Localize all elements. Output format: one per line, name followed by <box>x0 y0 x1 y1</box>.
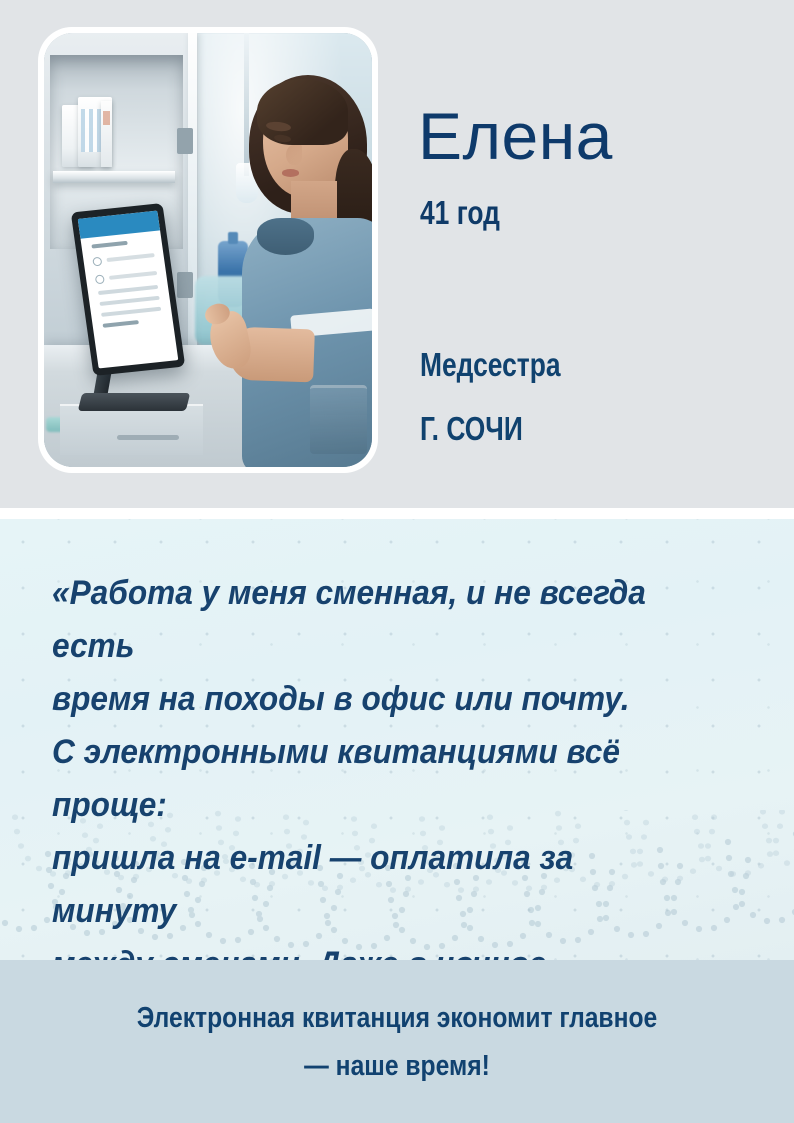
nurse-lips <box>282 169 299 176</box>
person-role: Медсестра <box>420 348 561 381</box>
nurse-photo-frame <box>38 27 378 473</box>
counter-drawer <box>60 404 202 455</box>
cabinet-shelf <box>53 171 175 183</box>
tablet-row-line <box>106 253 154 262</box>
footer-section: Электронная квитанция экономит главное —… <box>0 960 794 1123</box>
drawer-handle <box>117 435 179 440</box>
tablet-list-row <box>92 250 155 265</box>
checkbox-icon <box>94 274 104 284</box>
tablet-row-line <box>109 271 157 280</box>
person-name: Елена <box>418 103 613 169</box>
person-city: г. Сочи <box>420 412 523 445</box>
quote-section: «Работа у меня сменная, и не всегда есть… <box>0 519 794 960</box>
tablet-stand-base <box>78 393 191 411</box>
footer-text-block: Электронная квитанция экономит главное —… <box>37 994 757 1090</box>
nurse-photo <box>44 33 372 467</box>
footer-slogan-line-1: Электронная квитанция экономит главное <box>91 994 703 1042</box>
hero-text-block: Елена 41 год Медсестра г. Сочи <box>418 0 778 508</box>
small-medicine-box <box>101 101 113 167</box>
tablet-screen <box>77 210 177 368</box>
tablet-list-row <box>94 268 157 283</box>
footer-slogan-line-2: — наше время! <box>91 1042 703 1090</box>
nurse-scrubs-pocket <box>310 385 367 453</box>
nurse-scrubs-collar <box>257 218 314 255</box>
testimonial-poster: Елена 41 год Медсестра г. Сочи <box>0 0 794 1123</box>
hero-section: Елена 41 год Медсестра г. Сочи <box>0 0 794 508</box>
clinic-scene-illustration <box>44 33 372 467</box>
nurse-nose <box>286 145 301 165</box>
tablet-app-header <box>77 210 159 238</box>
tablet-body-line <box>99 295 159 305</box>
nurse-figure <box>188 59 372 467</box>
nurse-hair-front <box>257 79 348 144</box>
section-divider <box>0 508 794 519</box>
tablet-title-line <box>91 240 127 248</box>
checkbox-icon <box>92 256 102 266</box>
tablet-body-line <box>98 284 158 294</box>
tablet-body-line <box>101 306 161 316</box>
tablet-body-line <box>102 319 138 327</box>
testimonial-quote: «Работа у меня сменная, и не всегда есть… <box>52 567 705 960</box>
person-age: 41 год <box>420 196 500 229</box>
